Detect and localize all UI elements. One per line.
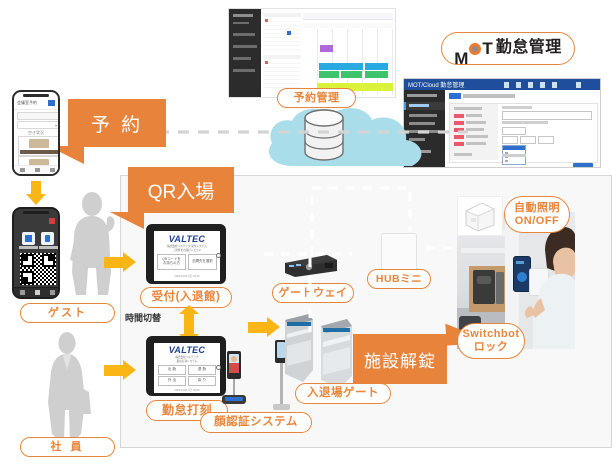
face-auth-terminal-front [222,351,246,411]
schedule-event [365,63,388,70]
booking-select[interactable]: ▾ [17,121,60,129]
reception-button-qr[interactable]: QRコードを お持ちの方 [157,254,186,270]
valtec-logo: VALTEC [154,345,220,355]
admin-toolbar-icon[interactable] [516,82,521,88]
admin-toolbar-icon[interactable] [552,82,557,88]
admin-toolbar-icon[interactable] [504,82,509,88]
tab-icon[interactable] [20,168,25,172]
pill-entry-gate: 入退場ゲート [295,383,391,404]
callout-qr-entry-label: QR入場 [148,177,215,204]
qr-label-unlock [39,246,58,249]
tab-icon[interactable] [50,290,55,295]
phone-notch [23,94,49,97]
qr-tabbar[interactable] [14,287,58,297]
admin-user-icon[interactable] [576,82,581,88]
attendance-button-out[interactable]: 退 勤 [188,365,216,375]
mot-logo-text: MT [454,29,493,68]
admin-submit-button[interactable] [573,163,593,168]
booking-phone: 会議室予約 ▾ 空き状況 [12,90,60,176]
schedule-grid [303,13,393,95]
admin-select[interactable] [502,127,526,135]
arrow-down-phone [26,181,46,205]
smart-lock-device [469,266,505,312]
attendance-tablet-screen: VALTEC 株式会社バルテック 勤怠打刻システム 出 勤 退 勤 外 出 戻 … [154,343,220,393]
admin-toolbar-icon[interactable] [528,82,533,88]
qr-label-entry [19,246,38,249]
booking-app-header: 会議室予約 [14,99,58,110]
admin-select[interactable] [502,136,518,144]
booking-tabbar[interactable] [14,165,58,174]
mot-logo-o-icon [469,43,481,55]
reservation-calendar-screenshot [228,8,396,98]
admin-breadcrumb [449,93,461,99]
pill-hub-mini: HUBミニ [367,269,431,289]
reception-footer: 2022/10/24 (月) 09:45 [154,274,220,278]
time-switch-label: 時間切替 [125,311,161,324]
attendance-button-in[interactable]: 出 勤 [158,365,186,375]
schedule-event [319,71,339,78]
mot-badge-label: 勤怠管理 [496,39,562,57]
qr-app-logo-icon [49,218,55,224]
schedule-event [365,71,388,78]
reception-tablet-screen: VALTEC 株式会社バルテック 受付システム ご用件をお選びください QRコー… [154,231,220,281]
tab-icon[interactable] [35,168,40,172]
chevron-down-icon: ▾ [55,123,57,128]
pill-employee: 社 員 [20,437,115,457]
tab-icon[interactable] [50,168,55,172]
entry-gate-left [281,312,315,384]
callout-reservation: 予 約 [68,99,166,147]
mini-calendar-bottom [263,55,301,91]
attendance-button-back[interactable]: 戻 り [188,376,216,386]
tab-icon[interactable] [35,290,40,295]
admin-select[interactable] [520,136,536,144]
qr-code-image [20,253,56,285]
pill-face-auth: 顔認証システム [200,412,312,433]
pill-switchbot-lock: Switchbot ロック [457,323,525,359]
callout-reservation-label: 予 約 [91,110,143,137]
reception-tablet: VALTEC 株式会社バルテック 受付システム ご用件をお選びください QRコー… [146,224,226,284]
app-logo-icon [48,100,55,106]
callout-qr-entry: QR入場 [128,167,234,213]
valtec-logo: VALTEC [154,234,220,244]
light-switch-device [457,196,503,236]
cloud-shape [258,100,458,180]
admin-select[interactable] [538,136,554,144]
room-card[interactable] [18,136,60,156]
qr-phone [12,207,60,299]
pill-reservation-mgmt: 予約管理 [277,88,356,108]
schedule-event [319,63,363,70]
cloud-dashed-connector [138,125,468,139]
attendance-subtitle-2: 勤怠打刻システム [154,359,220,363]
guest-silhouette [62,190,126,300]
tablet-home-button[interactable] [216,253,221,258]
arrow-guest-to-reception [104,252,136,272]
pill-guest: ゲスト [20,303,115,323]
attendance-tablet: VALTEC 株式会社バルテック 勤怠打刻システム 出 勤 退 勤 外 出 戻 … [146,336,226,396]
tablet-home-button[interactable] [216,365,221,370]
attendance-footer: 2022/10/24 (月) 09:45 [154,388,220,392]
mini-calendar-top [263,13,301,51]
admin-toolbar-icon[interactable] [540,82,545,88]
callout-tail [110,212,144,229]
callout-unlock-label: 施設解錠 [364,347,436,372]
attendance-button-away[interactable]: 外 出 [158,376,186,386]
reception-button-visit[interactable]: 訪問先を選択 [188,254,217,270]
callout-unlock: 施設解錠 [353,334,447,384]
booking-app-title: 会議室予約 [17,100,37,106]
schedule-event [341,71,362,78]
admin-text-input[interactable] [502,111,592,120]
pill-auto-light: 自動照明 ON/OFF [504,196,570,233]
arrow-employee-to-attendance [104,360,136,380]
pill-gateway: ゲートウェイ [272,283,354,303]
qr-icon-entry[interactable] [22,232,35,245]
dropdown-option[interactable] [505,160,508,162]
mot-title-badge: MT 勤怠管理 [441,32,575,65]
booking-search-input[interactable] [17,112,60,120]
calendar-sidebar [229,9,261,97]
admin-title: MOT/Cloud 勤怠管理 [408,80,464,89]
admin-titlebar: MOT/Cloud 勤怠管理 [404,79,600,90]
admin-content [445,90,600,167]
qr-icon-unlock[interactable] [41,232,54,245]
phone-notch [23,211,49,214]
arrow-to-gate [248,317,280,337]
gateway-device [283,251,339,279]
schedule-event [320,45,333,52]
employee-silhouette [36,330,98,450]
reception-subtitle-2: ご用件をお選びください [154,248,220,252]
dropdown-option-selected[interactable] [503,146,525,150]
tab-icon[interactable] [20,290,25,295]
entry-gate-right [318,316,354,390]
